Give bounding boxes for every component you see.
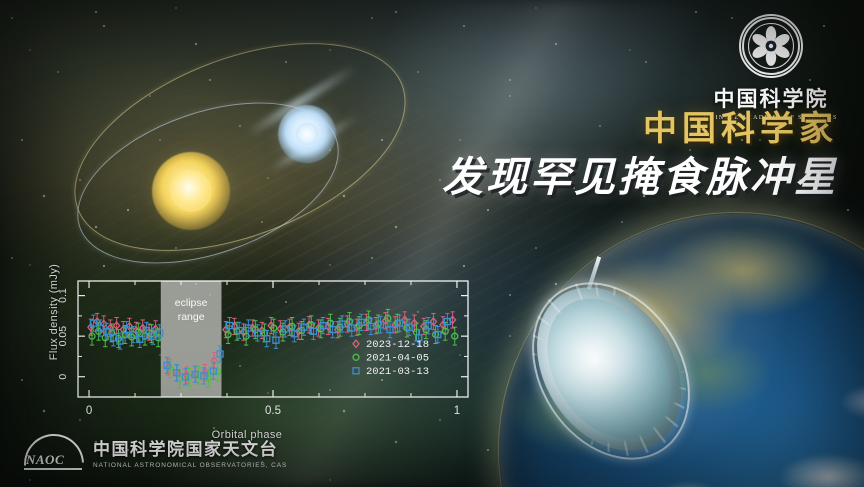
- naoc-logo: NAOC 中国科学院国家天文台 NATIONAL ASTRONOMICAL OB…: [22, 432, 287, 472]
- naoc-underline: [24, 468, 82, 470]
- naoc-arc-logo-icon: NAOC: [22, 432, 84, 472]
- light-curve-chart: Flux density (mJy) Orbital phase eclipse…: [12, 272, 482, 452]
- headline: 中国科学家 发现罕见掩食脉冲星: [442, 112, 838, 200]
- headline-line-2: 发现罕见掩食脉冲星: [442, 155, 838, 200]
- headline-line-1: 中国科学家: [442, 112, 838, 149]
- cas-logo: 中国科学院 CHINESE ACADEMY OF SCIENCES: [696, 14, 846, 121]
- naoc-names: 中国科学院国家天文台 NATIONAL ASTRONOMICAL OBSERVA…: [93, 435, 287, 469]
- legend-label: 2023-12-18: [366, 339, 429, 351]
- x-axis-tick-label: 0.5: [265, 405, 281, 417]
- eclipse-range-label: range: [178, 311, 205, 323]
- eclipse-range-label: eclipse: [175, 297, 208, 309]
- legend-item: 2021-03-13: [353, 366, 429, 378]
- x-axis-tick-label: 1: [454, 405, 460, 417]
- legend-label: 2021-03-13: [366, 366, 429, 378]
- infographic-poster: 中国科学院 CHINESE ACADEMY OF SCIENCES 中国科学家 …: [0, 0, 864, 487]
- naoc-name-en: NATIONAL ASTRONOMICAL OBSERVATORIES, CAS: [93, 462, 287, 469]
- legend-item: 2021-04-05: [353, 353, 429, 365]
- y-axis-tick-label: 0: [57, 374, 69, 380]
- cas-flower-emblem-icon: [739, 14, 803, 78]
- legend-label: 2021-04-05: [366, 353, 429, 365]
- pulsar-core: [296, 123, 318, 145]
- yellow-star-core: [170, 170, 212, 212]
- legend-item: 2023-12-18: [353, 339, 429, 351]
- y-axis-label: Flux density (mJy): [48, 252, 60, 372]
- naoc-acronym: NAOC: [26, 452, 64, 468]
- cas-name-cn: 中国科学院: [696, 83, 846, 113]
- naoc-name-cn: 中国科学院国家天文台: [93, 435, 287, 460]
- x-axis-tick-label: 0: [86, 405, 92, 417]
- plot-area: eclipserange00.050.100.512023-12-182021-…: [12, 272, 482, 452]
